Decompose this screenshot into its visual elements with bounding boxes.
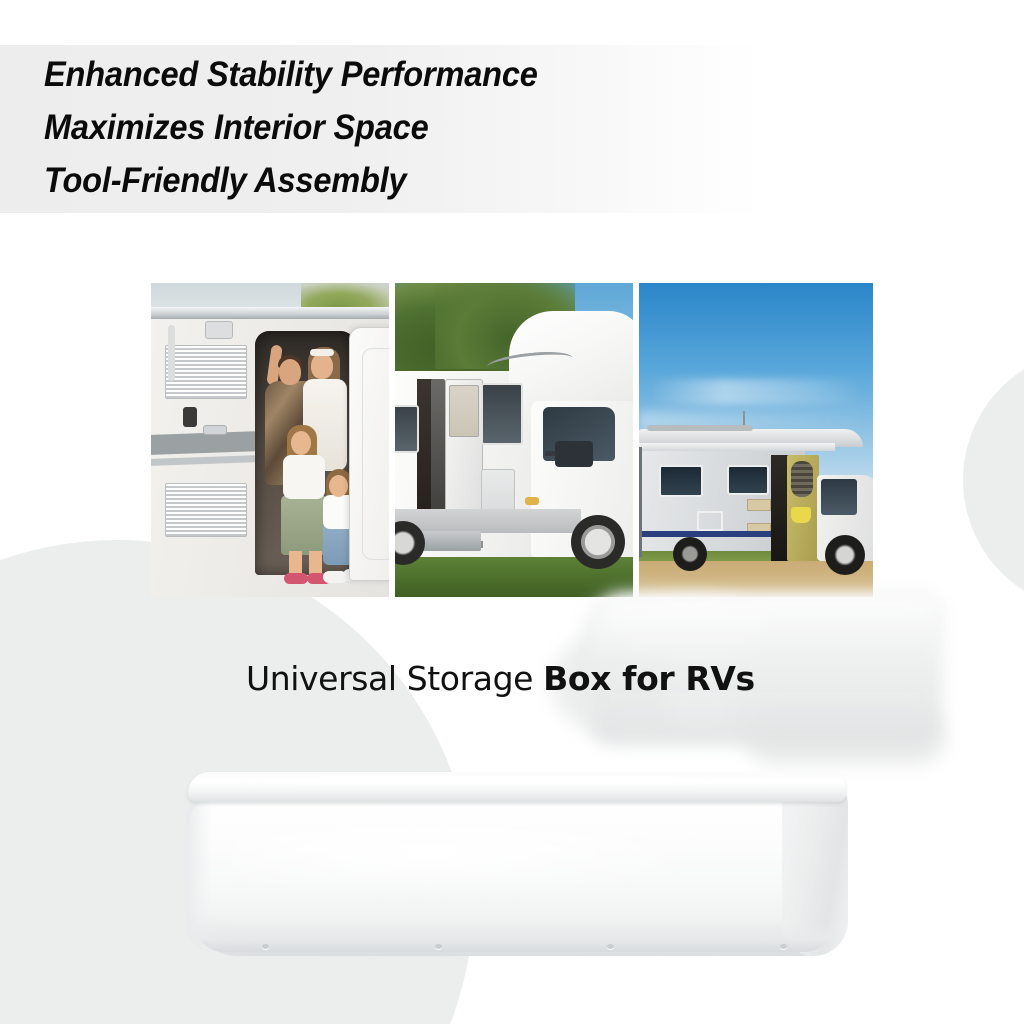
- product-mounting-hole: [780, 944, 787, 949]
- photo1-man-head: [279, 359, 301, 385]
- photo3-cab-window: [821, 479, 857, 515]
- photo3-window-right: [727, 465, 769, 495]
- photo3-hose-coil: [791, 461, 813, 497]
- photo1-girl2-head: [329, 475, 348, 497]
- photo1-girl1-head: [291, 431, 311, 455]
- photo1-door-handle: [203, 425, 227, 435]
- product-flange-highlight: [216, 777, 776, 784]
- photo1-girl1-shoe-left: [284, 573, 308, 584]
- photo1-girl1-skirt: [281, 495, 327, 555]
- photo3-ladder-pole: [639, 447, 642, 557]
- photo2-door-frame: [431, 379, 445, 529]
- photo1-vent-upper: [165, 345, 247, 399]
- product-mounting-hole: [262, 944, 269, 949]
- product-mounting-hole: [435, 944, 442, 949]
- product-face-highlight: [230, 824, 730, 898]
- photo2-door-window: [449, 385, 479, 437]
- photo3-vent-upper: [747, 499, 771, 511]
- product-mounting-hole: [607, 944, 614, 949]
- photo2-side-window: [481, 383, 523, 445]
- product-title-bold: Box for RVs: [543, 659, 755, 698]
- photo3-panel-outline: [697, 511, 723, 531]
- photo3-yellow-bucket: [791, 507, 811, 523]
- product-bottom-edge: [194, 922, 834, 952]
- photo3-front-wheel: [825, 535, 865, 575]
- product-title: Universal Storage Box for RVs: [246, 659, 846, 698]
- photo2-badge: [525, 497, 539, 505]
- background-circle-right: [963, 349, 1024, 611]
- photo1-hatch-latch: [205, 321, 233, 339]
- photo1-woman-head: [311, 353, 333, 379]
- photo2-side-mirror: [555, 441, 593, 467]
- photo-strip: [151, 283, 873, 597]
- photo-white-motorhome-on-grass: [395, 283, 633, 597]
- photo3-awning: [639, 443, 835, 451]
- headline-line-2: Maximizes Interior Space: [44, 101, 714, 154]
- photo1-door-inset: [362, 348, 389, 560]
- photo1-vent-lower: [165, 483, 247, 537]
- photo1-open-door: [349, 327, 389, 581]
- photo3-window-left: [659, 465, 703, 497]
- photo3-rear-wheel: [673, 537, 707, 571]
- headline-line-3: Tool-Friendly Assembly: [44, 154, 714, 207]
- photo1-girl1-top: [283, 455, 325, 499]
- product-infographic: Enhanced Stability Performance Maximizes…: [0, 0, 1024, 1024]
- photo1-woman-headband: [310, 349, 334, 356]
- photo1-door-lock: [183, 407, 197, 427]
- headline-line-1: Enhanced Stability Performance: [44, 48, 714, 101]
- ghost-blob-top: [609, 598, 759, 658]
- ghost-blob-bottom: [745, 708, 945, 764]
- photo3-roof-rail: [647, 425, 753, 431]
- photo3-cloud-upper: [649, 379, 863, 405]
- photo-family-in-rv-doorway: [151, 283, 389, 597]
- photo-camper-van-blue-sky: [639, 283, 873, 597]
- photo1-door-strip: [168, 325, 175, 381]
- photo2-entry-step: [421, 531, 481, 551]
- photo2-rear-window: [395, 405, 419, 453]
- product-title-light: Universal Storage: [246, 659, 543, 698]
- photo2-front-wheel: [571, 515, 625, 569]
- photo2-lower-skirt: [395, 509, 581, 533]
- product-storage-box: [186, 768, 852, 960]
- headline-block: Enhanced Stability Performance Maximizes…: [44, 48, 714, 207]
